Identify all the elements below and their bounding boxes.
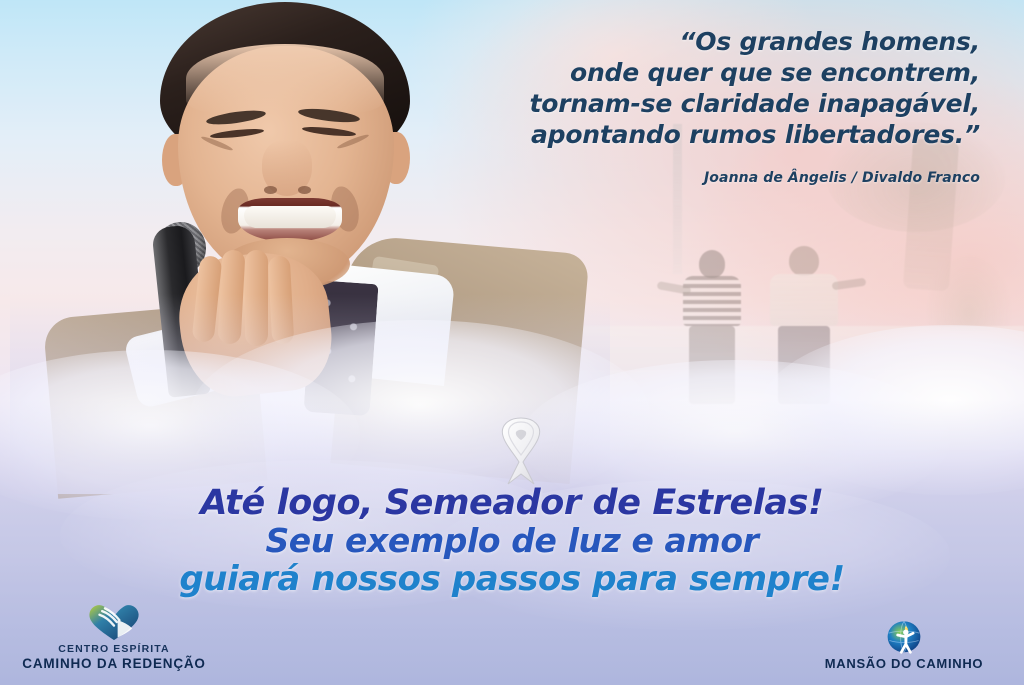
memorial-poster: “Os grandes homens, onde quer que se enc… <box>0 0 1024 685</box>
child-torso <box>683 276 741 326</box>
adult-head <box>789 246 819 276</box>
adult-torso <box>770 274 838 326</box>
palm-bush-shape <box>924 250 1014 330</box>
quote-line-1: “Os grandes homens, <box>530 26 980 57</box>
logo-right-line-2: MANSÃO DO CAMINHO <box>794 656 1014 671</box>
quote-text: “Os grandes homens, onde quer que se enc… <box>530 26 980 150</box>
globe-figure-flame-icon <box>794 615 1014 655</box>
logo-mansao-do-caminho: MANSÃO DO CAMINHO <box>794 615 1014 671</box>
quote-line-2: onde quer que se encontrem, <box>530 57 980 88</box>
quote-attribution: Joanna de Ângelis / Divaldo Franco <box>704 170 980 186</box>
logo-centro-espirita: CENTRO ESPÍRITA CAMINHO DA REDENÇÃO <box>14 602 214 671</box>
forehead-highlight <box>186 44 384 114</box>
headline-block: Até logo, Semeador de Estrelas! Seu exem… <box>0 484 1024 598</box>
nostril-left <box>264 186 277 194</box>
heart-hands-icon <box>14 602 214 642</box>
white-mourning-ribbon <box>486 410 556 486</box>
logo-left-line-1: CENTRO ESPÍRITA <box>14 643 214 655</box>
nostril-right <box>298 186 311 194</box>
headline-line-2: Seu exemplo de luz e amor <box>0 522 1024 560</box>
logo-left-line-2: CAMINHO DA REDENÇÃO <box>14 656 214 671</box>
quote-line-3: tornam-se claridade inapagável, <box>530 88 980 119</box>
teeth-shape <box>244 206 336 228</box>
headline-line-3: guiará nossos passos para sempre! <box>0 560 1024 598</box>
child-head <box>699 250 725 278</box>
headline-line-1: Até logo, Semeador de Estrelas! <box>0 484 1024 522</box>
quote-line-4: apontando rumos libertadores.” <box>530 119 980 150</box>
